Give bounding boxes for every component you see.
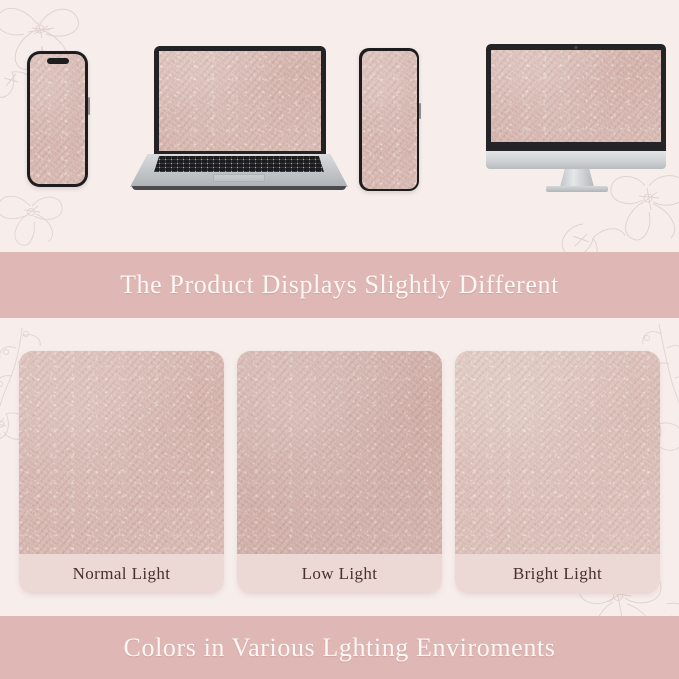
phone-side-button: [88, 97, 90, 115]
phone-portrait-flat: [359, 48, 419, 191]
swatch-low-light: [237, 351, 442, 554]
swatch-card-bright-light: Bright Light: [455, 351, 660, 594]
banner-top-text: The Product Displays Slightly Different: [120, 270, 559, 300]
monitor-stand-neck: [560, 169, 594, 187]
phone-portrait-notch: [27, 51, 88, 187]
laptop-lid: [154, 46, 326, 156]
banner-bottom-text: Colors in Various Lghting Enviroments: [124, 633, 556, 663]
laptop-trackpad: [213, 174, 265, 182]
swatch-label-strip-normal: Normal Light: [19, 554, 224, 594]
dynamic-island-icon: [47, 58, 69, 64]
infographic-page: The Product Displays Slightly Different …: [0, 0, 679, 679]
swatch-label-strip-bright: Bright Light: [455, 554, 660, 594]
device-mockup-row: [0, 0, 679, 252]
webcam-icon: [575, 46, 578, 49]
swatch-tint-normal: [19, 351, 224, 554]
desktop-monitor: [486, 44, 668, 194]
laptop-keyboard: [154, 156, 324, 172]
banner-bottom: Colors in Various Lghting Enviroments: [0, 616, 679, 679]
swatch-label-low: Low Light: [302, 564, 378, 584]
swatch-tint-bright: [455, 351, 660, 554]
laptop-base: [128, 154, 350, 192]
swatch-card-low-light: Low Light: [237, 351, 442, 594]
monitor-lid: [486, 44, 666, 151]
swatch-label-bright: Bright Light: [513, 564, 602, 584]
swatch-label-strip-low: Low Light: [237, 554, 442, 594]
swatch-card-normal-light: Normal Light: [19, 351, 224, 594]
phone-notch-screen: [30, 54, 85, 184]
laptop-open: [128, 46, 350, 192]
lighting-swatch-row: Normal Light Low Light Bright Light: [0, 318, 679, 616]
monitor-stand-base: [546, 186, 608, 192]
monitor-screen: [491, 50, 661, 142]
phone-flat-screen: [362, 51, 417, 189]
swatch-normal-light: [19, 351, 224, 554]
banner-top: The Product Displays Slightly Different: [0, 252, 679, 318]
swatch-tint-low: [237, 351, 442, 554]
swatch-label-normal: Normal Light: [73, 564, 171, 584]
monitor-chin: [486, 151, 666, 169]
swatch-bright-light: [455, 351, 660, 554]
laptop-front-edge: [132, 186, 346, 190]
laptop-screen: [159, 51, 321, 151]
phone-flat-side-button: [419, 103, 421, 119]
